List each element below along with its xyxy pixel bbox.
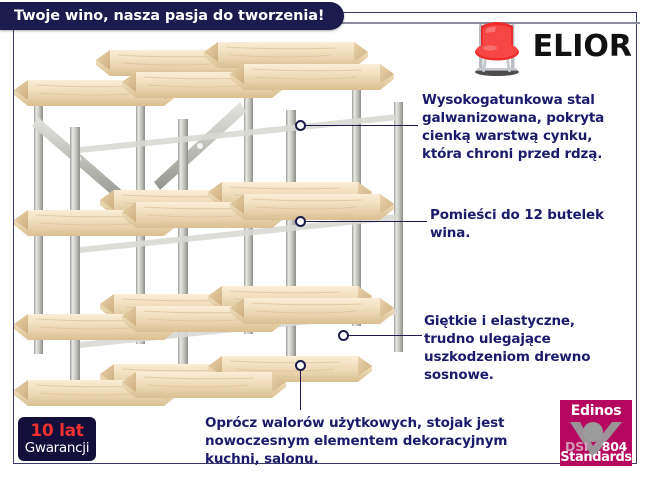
promo-banner-page: Twoje wino, nasza pasja do tworzenia! EL… <box>0 0 650 477</box>
certificate-brand: Edinos <box>571 403 622 419</box>
wooden-wine-rack-image <box>8 42 408 417</box>
warranty-years: 10 lat <box>30 423 83 440</box>
header-banner: Twoje wino, nasza pasja do tworzenia! <box>0 2 344 30</box>
callout-line-wood <box>348 335 422 337</box>
warranty-badge: 10 lat Gwarancji <box>18 417 96 461</box>
red-chair-icon <box>469 16 525 78</box>
warranty-label: Gwarancji <box>25 442 89 456</box>
certificate-standards: Standards <box>560 450 632 465</box>
callout-line-steel <box>305 125 418 127</box>
callout-text-steel: Wysokogatunkowa stal galwanizowana, pokr… <box>422 92 622 164</box>
callout-line-decor <box>300 370 302 410</box>
callout-text-wood: Giętkie i elastyczne, trudno ulegające u… <box>424 313 624 385</box>
brand-logo: ELIOR <box>469 16 632 78</box>
brand-wordmark: ELIOR <box>533 32 632 62</box>
callout-text-decor: Oprócz walorów użytkowych, stojak jest n… <box>205 415 535 469</box>
callout-line-capacity <box>305 221 427 223</box>
banner-title: Twoje wino, nasza pasja do tworzenia! <box>14 8 324 24</box>
certificate-badge: Edinos DSI 804 Standards <box>560 400 632 466</box>
callout-text-capacity: Pomieści do 12 butelek wina. <box>430 207 620 243</box>
